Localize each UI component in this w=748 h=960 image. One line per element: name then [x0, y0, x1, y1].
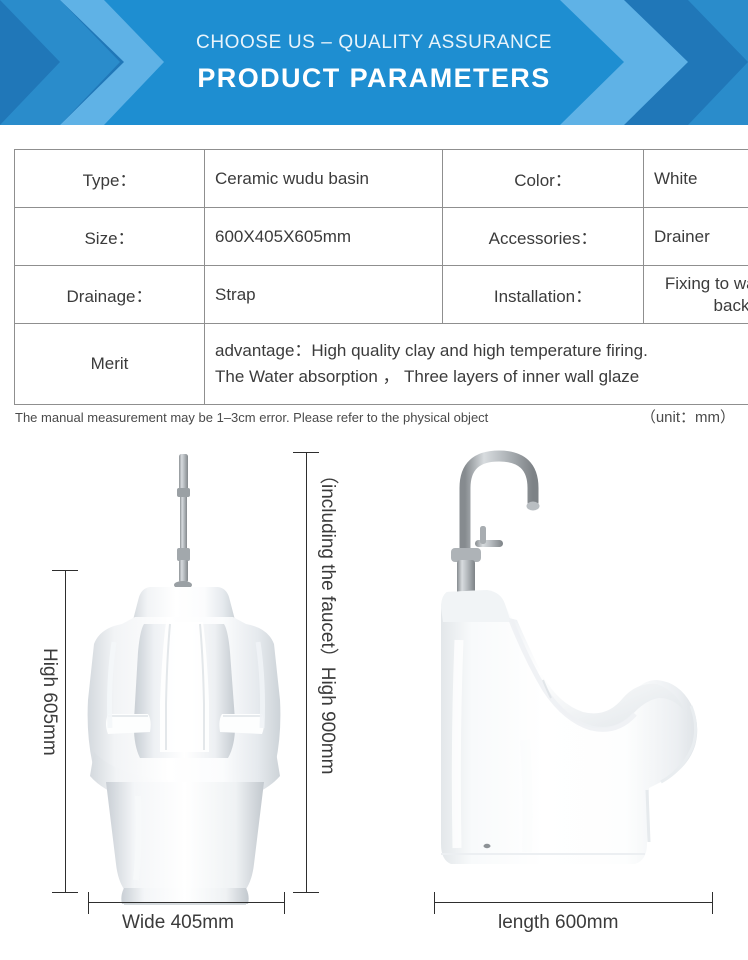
product-side-view-image	[425, 440, 725, 900]
merit-line-2: The Water absorption ， Three layers of i…	[215, 364, 748, 390]
page-banner: CHOOSE US – QUALITY ASSURANCE PRODUCT PA…	[0, 0, 748, 125]
left-width-cap-left	[88, 892, 89, 914]
table-row: Type： Ceramic wudu basin Color： White	[15, 150, 748, 208]
cell-value-installation: Fixing to wall with back	[644, 266, 748, 324]
overall-height-cap-bottom	[293, 892, 319, 893]
right-width-cap-left	[434, 892, 435, 914]
cell-value-type: Ceramic wudu basin	[205, 150, 443, 208]
left-height-label: High 605mm	[38, 648, 60, 756]
left-height-line	[65, 570, 66, 892]
left-width-label: Wide 405mm	[122, 912, 234, 934]
cell-label-accessories: Accessories：	[443, 208, 644, 266]
left-width-cap-right	[284, 892, 285, 914]
left-height-cap-bottom	[52, 892, 78, 893]
cell-value-size: 600X405X605mm	[205, 208, 443, 266]
left-width-line	[88, 902, 284, 903]
cell-label-size: Size：	[15, 208, 205, 266]
measurement-unit-text: （unit：mm）	[641, 406, 735, 427]
measurement-note: The manual measurement may be 1–3cm erro…	[15, 406, 735, 427]
table-row: Merit advantage：High quality clay and hi…	[15, 324, 748, 405]
right-width-label: length 600mm	[498, 912, 618, 934]
table-row: Size： 600X405X605mm Accessories： Drainer	[15, 208, 748, 266]
product-diagram-area: High 605mm	[0, 430, 748, 960]
product-parameters-table: Type： Ceramic wudu basin Color： White Si…	[14, 149, 748, 405]
right-width-line	[434, 902, 712, 903]
banner-text-group: CHOOSE US – QUALITY ASSURANCE PRODUCT PA…	[0, 0, 748, 125]
banner-title: PRODUCT PARAMETERS	[197, 63, 550, 94]
banner-subtitle: CHOOSE US – QUALITY ASSURANCE	[196, 32, 552, 54]
merit-line-1: advantage：High quality clay and high tem…	[215, 338, 748, 364]
cell-label-color: Color：	[443, 150, 644, 208]
measurement-note-text: The manual measurement may be 1–3cm erro…	[15, 410, 641, 425]
cell-label-merit: Merit	[15, 324, 205, 405]
product-front-view-image	[78, 452, 293, 907]
cell-value-accessories: Drainer	[644, 208, 748, 266]
cell-label-type: Type：	[15, 150, 205, 208]
overall-height-label: （including the faucet）High 900mm	[314, 465, 341, 774]
cell-label-installation: Installation：	[443, 266, 644, 324]
overall-height-line	[306, 452, 307, 892]
cell-value-merit: advantage：High quality clay and high tem…	[205, 324, 748, 405]
right-width-cap-right	[712, 892, 713, 914]
cell-value-drainage: Strap	[205, 266, 443, 324]
cell-value-color: White	[644, 150, 748, 208]
table-row: Drainage： Strap Installation： Fixing to …	[15, 266, 748, 324]
cell-label-drainage: Drainage：	[15, 266, 205, 324]
